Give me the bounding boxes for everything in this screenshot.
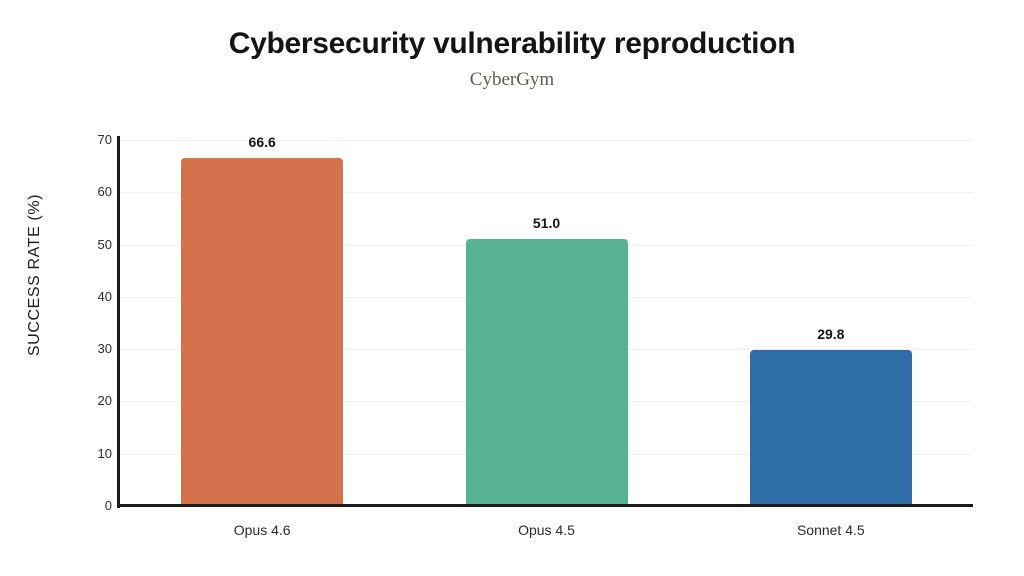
bar-value-label: 29.8 [750,326,912,342]
y-axis-tick-label: 20 [66,394,112,408]
chart-subtitle: CyberGym [0,68,1024,92]
plot-area: 66.651.029.8 [120,140,973,506]
bar-value-label: 51.0 [466,215,628,231]
y-axis-tick-label: 70 [66,133,112,147]
y-axis-tick-label: 50 [66,238,112,252]
y-axis-tick-label: 0 [66,499,112,513]
x-axis-spine [117,504,973,507]
y-axis-tick-label: 10 [66,447,112,461]
x-axis-tick-label: Opus 4.6 [162,521,362,539]
bar-value-label: 66.6 [181,134,343,150]
y-axis-tick-label: 30 [66,342,112,356]
x-axis-tick-label: Sonnet 4.5 [731,521,931,539]
bar[interactable] [466,239,628,506]
y-axis-tick-labels: 010203040506070 [58,0,112,576]
bar[interactable] [181,158,343,506]
chart-title: Cybersecurity vulnerability reproduction [0,26,1024,62]
bar-chart-figure: Cybersecurity vulnerability reproduction… [0,0,1024,576]
x-axis-tick-label: Opus 4.5 [447,521,647,539]
bar[interactable] [750,350,912,506]
y-axis-tick-label: 40 [66,290,112,304]
y-axis-spine [117,136,120,508]
y-axis-tick-label: 60 [66,185,112,199]
y-axis-title: SUCCESS RATE (%) [26,135,44,415]
